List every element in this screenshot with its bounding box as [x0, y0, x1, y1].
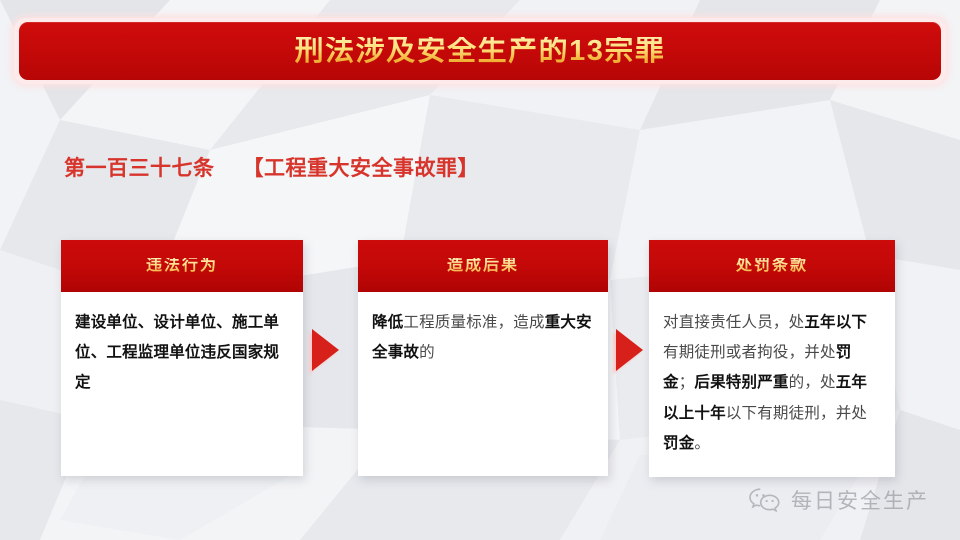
page-title: 刑法涉及安全生产的13宗罪 [295, 37, 666, 66]
crime-name: 【工程重大安全事故罪】 [243, 157, 480, 180]
card-body-illegal-conduct: 建设单位、设计单位、施工单位、工程监理单位违反国家规定 [61, 292, 303, 409]
card-consequence: 造成后果 降低工程质量标准，造成重大安全事故的 [358, 240, 608, 476]
card-header-label: 造成后果 [447, 258, 519, 274]
card-penalty: 处罚条款 对直接责任人员，处五年以下有期徒刑或者拘役，并处罚金；后果特别严重的，… [649, 240, 895, 477]
article-number: 第一百三十七条 [64, 157, 215, 180]
card-body-consequence: 降低工程质量标准，造成重大安全事故的 [358, 292, 608, 378]
card-header-illegal-conduct: 违法行为 [61, 240, 303, 292]
card-illegal-conduct: 违法行为 建设单位、设计单位、施工单位、工程监理单位违反国家规定 [61, 240, 303, 476]
title-bar: 刑法涉及安全生产的13宗罪 [19, 22, 941, 80]
title-bar-glow: 刑法涉及安全生产的13宗罪 [14, 18, 946, 84]
card-header-label: 违法行为 [146, 258, 218, 274]
wechat-icon [748, 487, 782, 513]
watermark: 每日安全生产 [748, 485, 929, 515]
slide-canvas: 刑法涉及安全生产的13宗罪 第一百三十七条【工程重大安全事故罪】 违法行为 建设… [0, 0, 960, 540]
watermark-label: 每日安全生产 [791, 485, 929, 515]
card-header-consequence: 造成后果 [358, 240, 608, 292]
arrow-right-icon [312, 329, 339, 371]
card-body-penalty: 对直接责任人员，处五年以下有期徒刑或者拘役，并处罚金；后果特别严重的，处五年以上… [649, 292, 895, 469]
arrow-right-icon [616, 329, 643, 371]
card-header-penalty: 处罚条款 [649, 240, 895, 292]
card-header-label: 处罚条款 [736, 258, 808, 274]
article-subtitle: 第一百三十七条【工程重大安全事故罪】 [64, 152, 479, 182]
